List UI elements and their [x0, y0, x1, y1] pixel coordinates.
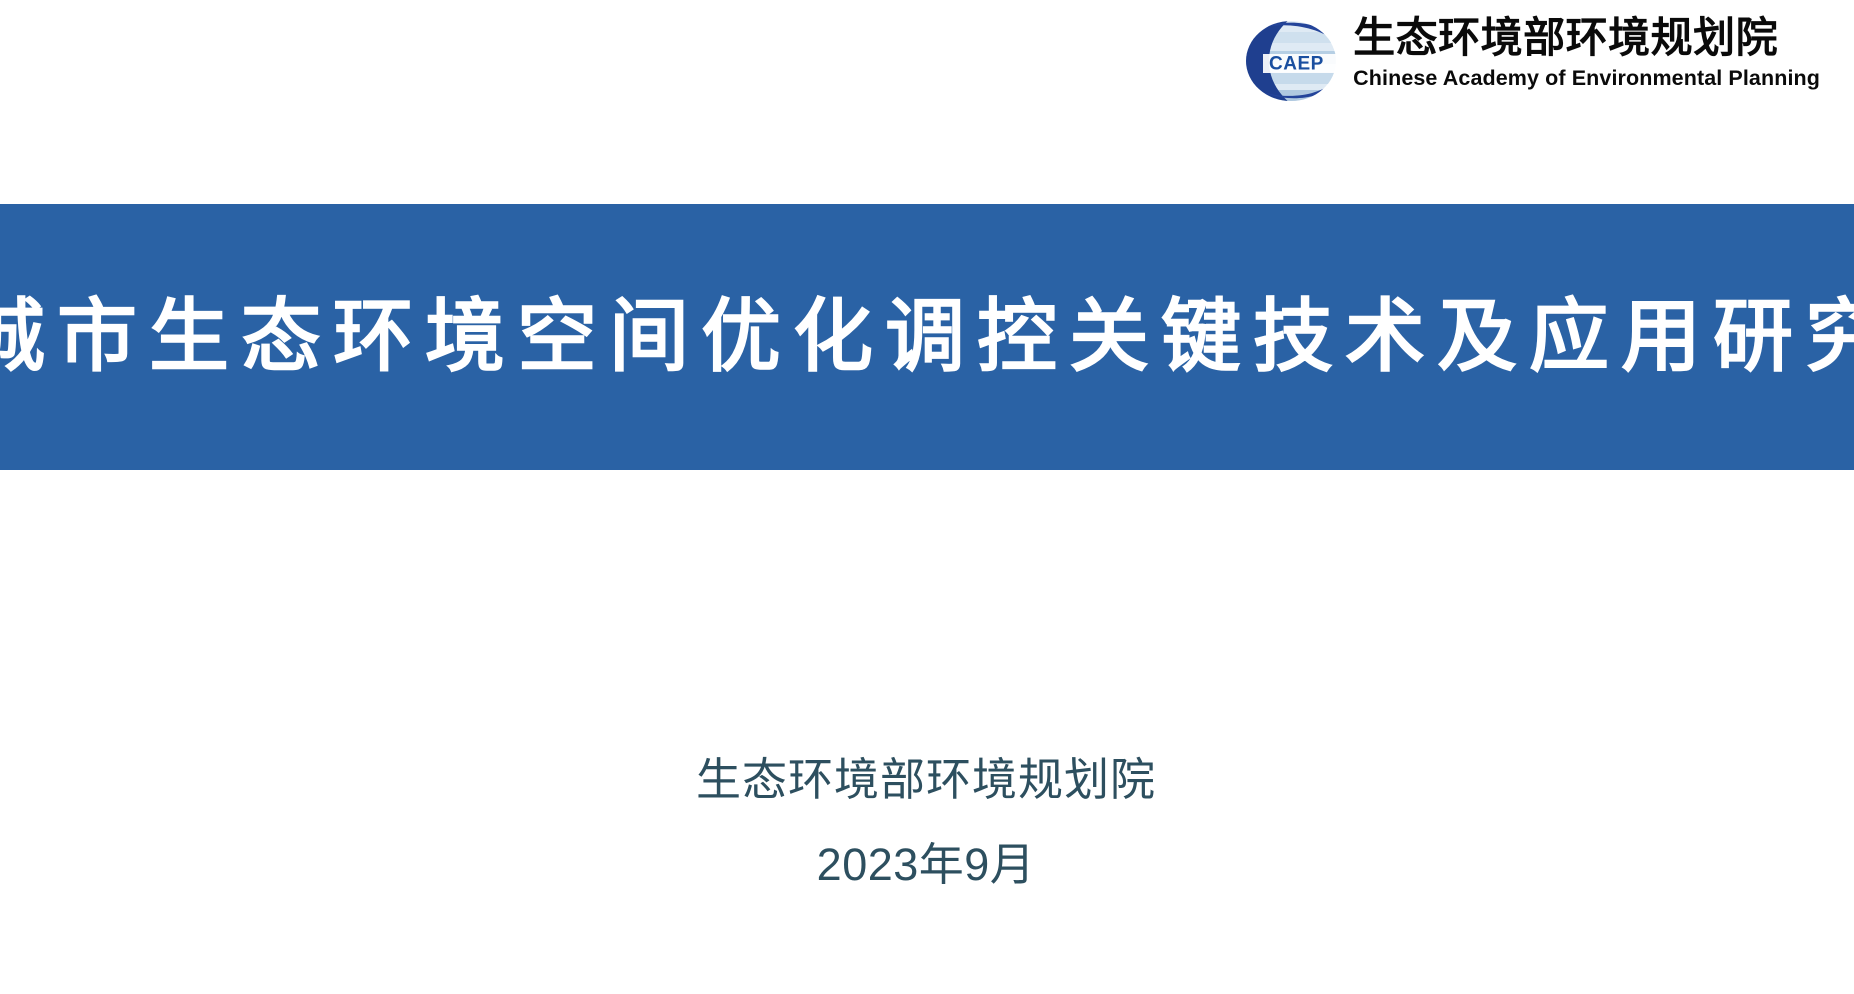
- presenter-organization: 生态环境部环境规划院: [696, 752, 1156, 808]
- presentation-title-slide: CAEP 生态环境部环境规划院 Chinese Academy of Envir…: [0, 0, 1854, 994]
- organization-name-english: Chinese Academy of Environmental Plannin…: [1353, 66, 1820, 92]
- organization-branding: CAEP 生态环境部环境规划院 Chinese Academy of Envir…: [1243, 14, 1820, 104]
- organization-name-block: 生态环境部环境规划院 Chinese Academy of Environmen…: [1353, 14, 1820, 91]
- svg-text:CAEP: CAEP: [1269, 54, 1324, 75]
- presenter-block: 生态环境部环境规划院 2023年9月: [0, 752, 1854, 894]
- presentation-date: 2023年9月: [817, 837, 1036, 893]
- page-title: 城市生态环境空间优化调控关键技术及应用研究: [0, 297, 1854, 377]
- title-banner: 城市生态环境空间优化调控关键技术及应用研究: [0, 204, 1854, 470]
- slide-header: CAEP 生态环境部环境规划院 Chinese Academy of Envir…: [0, 0, 1854, 118]
- caep-globe-logo-icon: CAEP: [1243, 18, 1339, 104]
- organization-name-chinese: 生态环境部环境规划院: [1353, 16, 1778, 61]
